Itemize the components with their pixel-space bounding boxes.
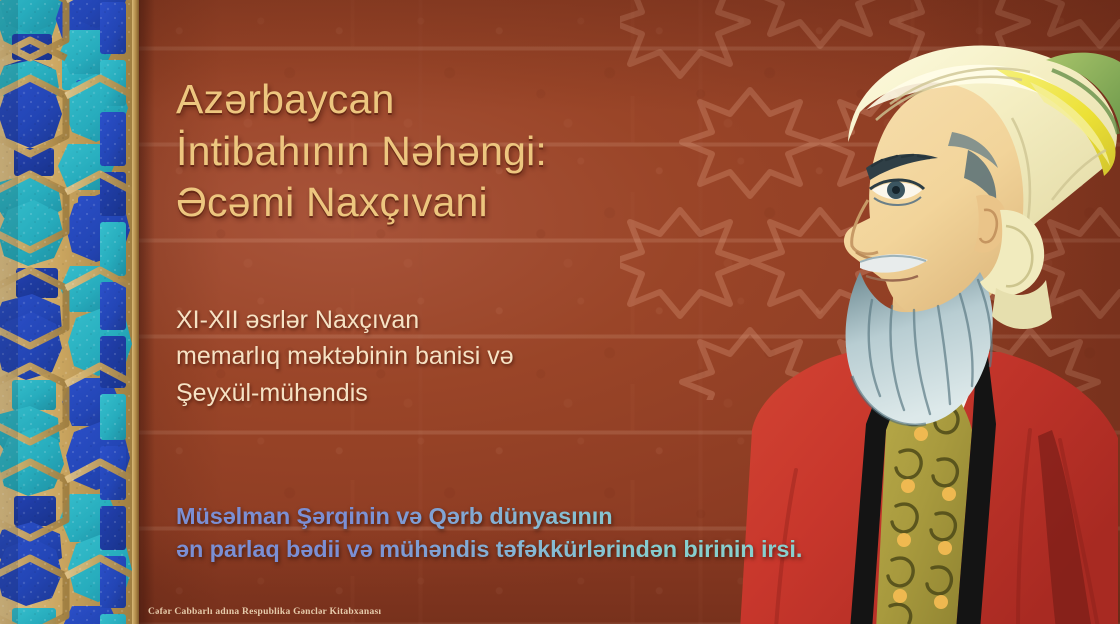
subtitle-line-2: memarlıq məktəbinin banisi və <box>176 338 646 374</box>
subtitle-line-3: Şeyxül-mühəndis <box>176 375 646 411</box>
tagline-line-2: ən parlaq bədii və mühəndis təfəkkürləri… <box>176 533 996 566</box>
mosaic-border-gold-edge <box>132 0 139 630</box>
subtitle-line-1: XI-XII əsrlər Naxçıvan <box>176 302 646 338</box>
footer-credit: Cəfər Cabbarlı adına Respublika Gənclər … <box>148 607 381 617</box>
mosaic-tile-border <box>0 0 132 630</box>
page-tagline: Müsəlman Şərqinin və Qərb dünyasının ən … <box>176 500 996 567</box>
mosaic-border-shadow <box>139 0 155 630</box>
poster-slide: Azərbaycan İntibahının Nəhəngi: Əcəmi Na… <box>0 0 1120 630</box>
title-line-3: Əcəmi Naxçıvani <box>176 177 736 229</box>
page-subtitle: XI-XII əsrlər Naxçıvan memarlıq məktəbin… <box>176 302 646 411</box>
tagline-line-1: Müsəlman Şərqinin və Qərb dünyasının <box>176 500 996 533</box>
title-line-1: Azərbaycan <box>176 74 736 126</box>
page-title: Azərbaycan İntibahının Nəhəngi: Əcəmi Na… <box>176 74 736 229</box>
bottom-white-strip <box>0 624 1120 630</box>
title-line-2: İntibahının Nəhəngi: <box>176 126 736 178</box>
